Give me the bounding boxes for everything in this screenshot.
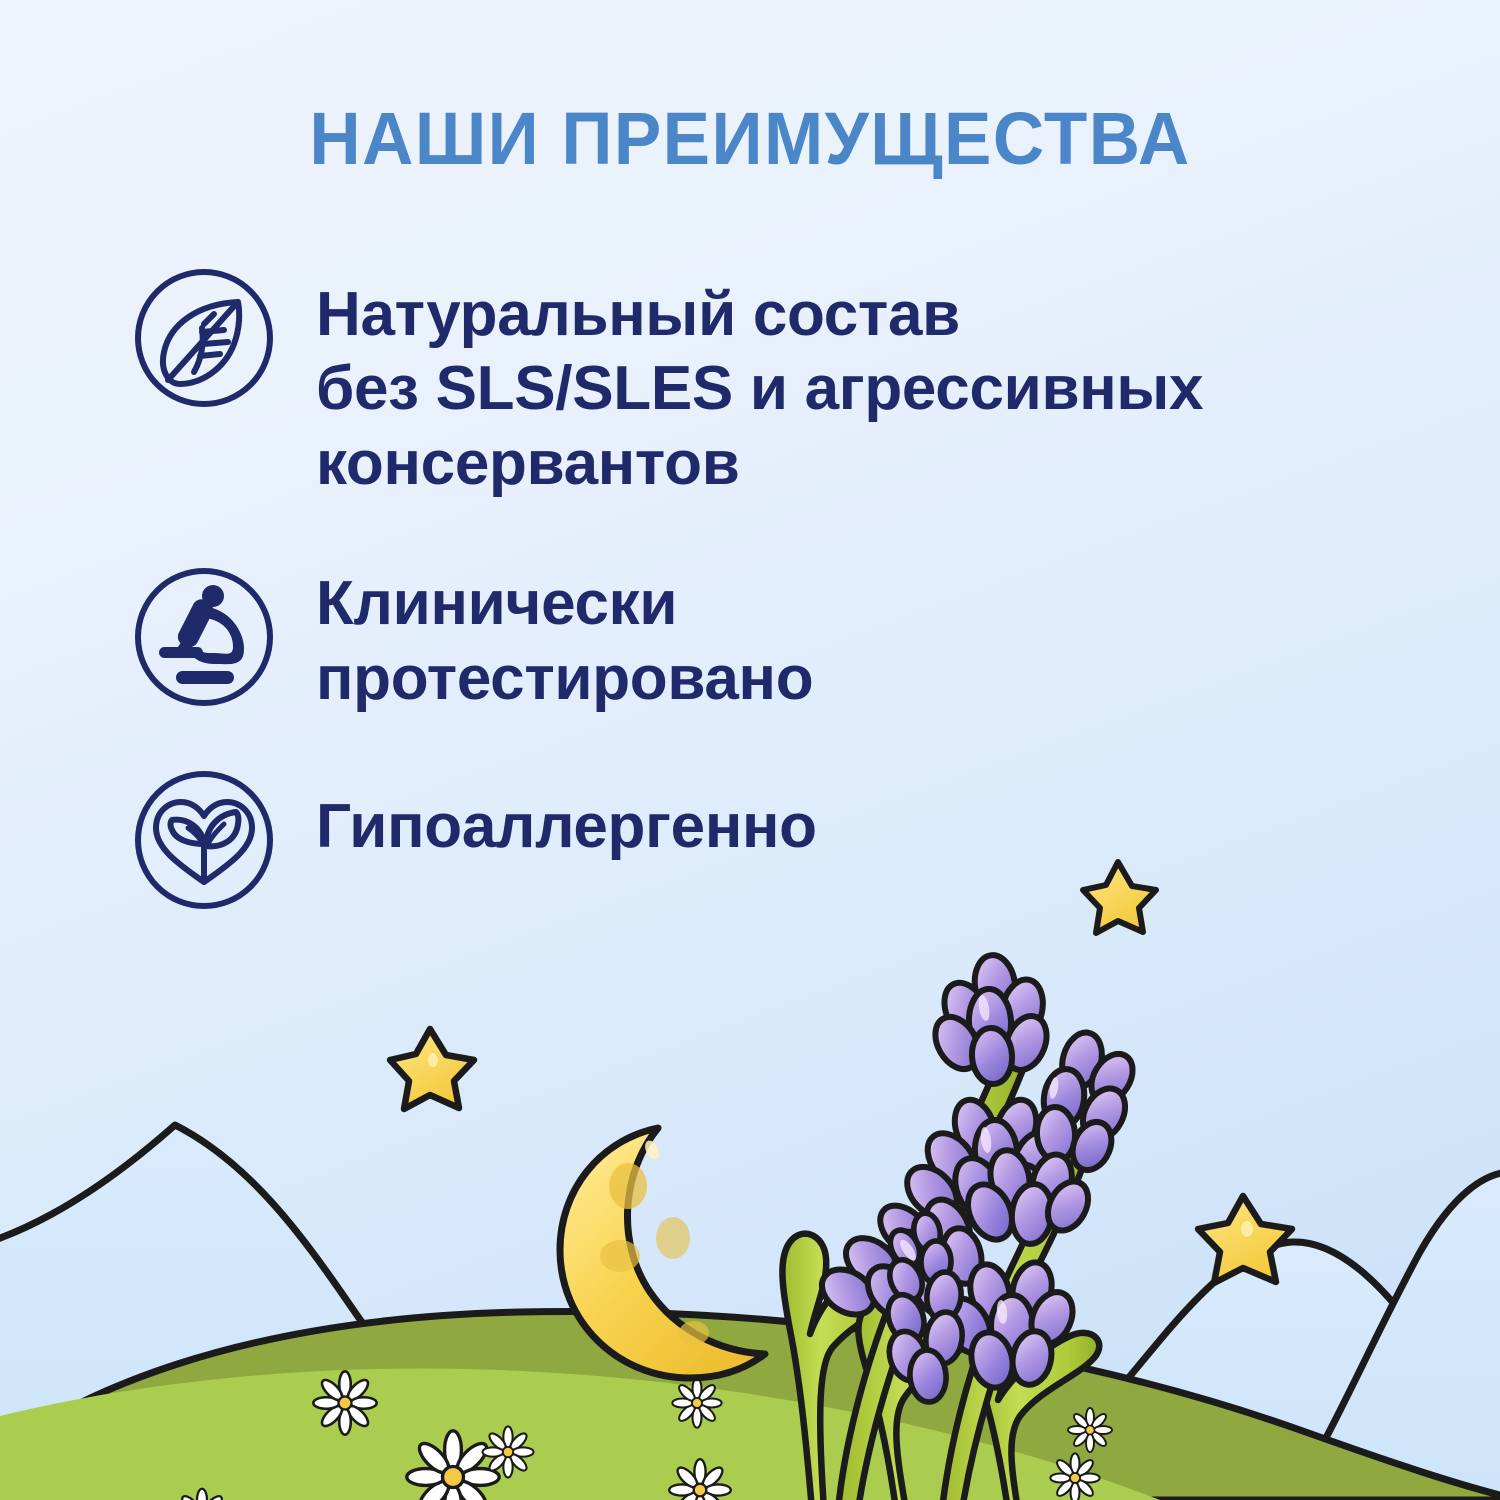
page-title: НАШИ ПРЕИМУЩЕСТВА	[30, 96, 1470, 181]
benefit-text-clinically-tested: Клинически протестировано	[316, 561, 813, 716]
benefit-item-hypoallergenic: Гипоаллергенно	[128, 764, 1458, 916]
crescent-moon-icon	[560, 1128, 765, 1378]
benefit-text-natural-composition: Натуральный состав без SLS/SLES и агресс…	[316, 262, 1203, 501]
benefits-list: Натуральный состав без SLS/SLES и агресс…	[128, 262, 1458, 958]
benefit-item-natural-composition: Натуральный состав без SLS/SLES и агресс…	[128, 262, 1458, 501]
daisy-flowers	[175, 1371, 1112, 1500]
lavender-plant	[782, 953, 1141, 1500]
benefit-text-hypoallergenic: Гипоаллергенно	[316, 764, 817, 864]
star-icon-lower-right	[1198, 1196, 1292, 1283]
mountain-range	[0, 1120, 1500, 1500]
promo-poster: НАШИ ПРЕИМУЩЕСТВА Натуральный состав без…	[0, 0, 1500, 1500]
green-hill	[0, 1311, 1500, 1500]
microscope-circle-icon	[128, 561, 280, 713]
star-icon-left	[390, 1029, 474, 1109]
heart-sprout-circle-icon	[128, 764, 280, 916]
benefit-item-clinically-tested: Клинически протестировано	[128, 561, 1458, 716]
leaf-circle-icon	[128, 262, 280, 414]
